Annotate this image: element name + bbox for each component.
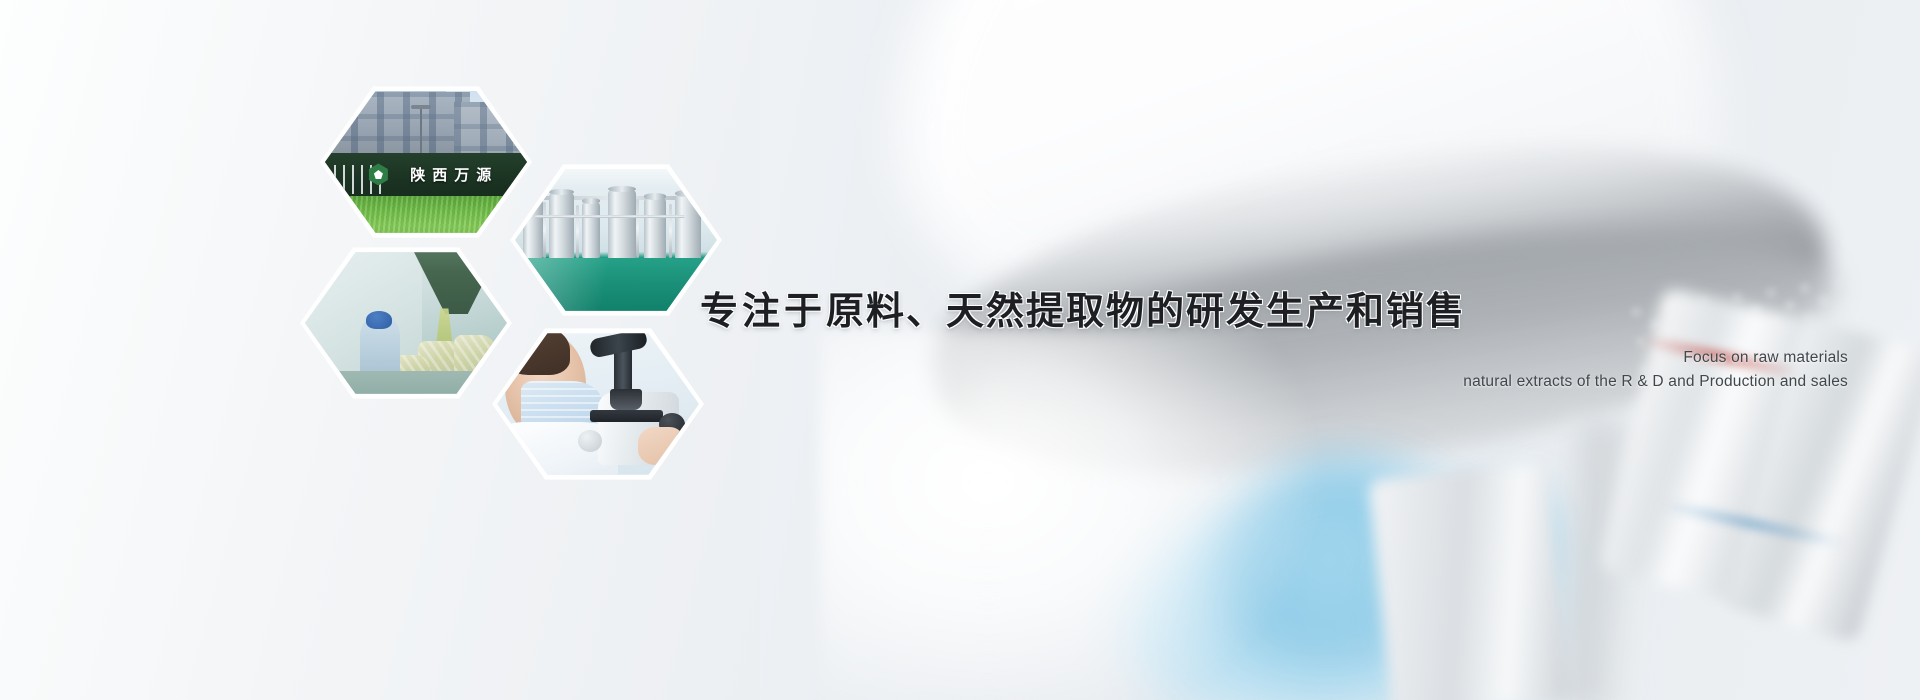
hex-tile-extraction-workshop[interactable] <box>300 245 512 401</box>
objective-lens-left-blur <box>1368 461 1572 700</box>
hero-copy: 专注于原料、天然提取物的研发生产和销售 Focus on raw materia… <box>700 292 1880 394</box>
hero-banner: 陕西万源 <box>0 0 1920 700</box>
hex-tile-factory-entrance-image: 陕西万源 <box>325 89 527 235</box>
hero-subtitle-line-2: natural extracts of the R & D and Produc… <box>700 370 1848 394</box>
company-badge-icon <box>367 163 391 187</box>
hex-photo-gallery: 陕西万源 <box>296 80 716 470</box>
factory-sign-text: 陕西万源 <box>392 161 517 189</box>
hero-headline-lead: 专注于 <box>700 289 826 333</box>
hex-tile-laboratory-microscope[interactable] <box>492 326 704 482</box>
hero-headline-main: 原料、天然提取物的研发生产和销售 <box>826 289 1466 333</box>
hex-tile-extraction-workshop-image <box>305 250 507 396</box>
hex-tile-production-equipment[interactable] <box>510 162 722 318</box>
hex-tile-production-equipment-image <box>515 167 717 313</box>
hex-tile-factory-entrance[interactable]: 陕西万源 <box>320 84 532 240</box>
hero-headline: 专注于原料、天然提取物的研发生产和销售 <box>700 292 1880 332</box>
hero-subtitle: Focus on raw materials natural extracts … <box>700 346 1880 394</box>
hero-subtitle-line-1: Focus on raw materials <box>700 346 1848 370</box>
hex-tile-laboratory-microscope-image <box>497 331 699 477</box>
